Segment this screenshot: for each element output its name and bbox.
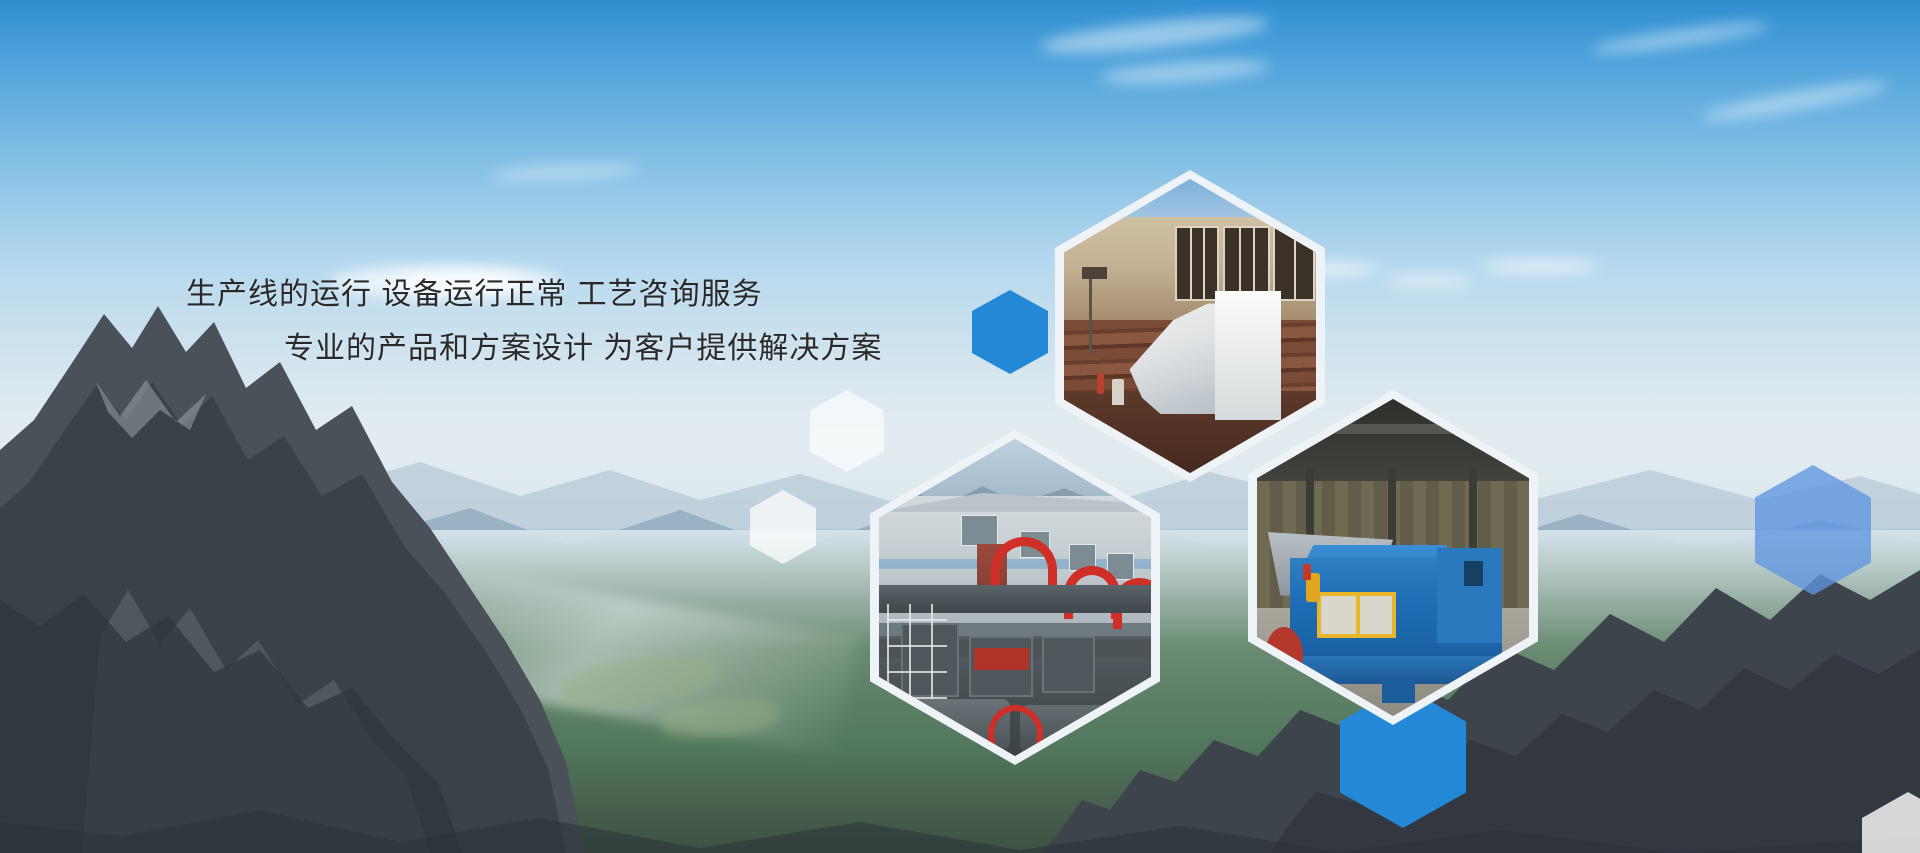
- hex-photo-image: [1064, 179, 1316, 473]
- scene-blue-shredder: [1257, 399, 1529, 716]
- headline-line-1: 生产线的运行 设备运行正常 工艺咨询服务: [186, 268, 946, 322]
- decorative-hexagon-light-blue: [1755, 465, 1871, 595]
- hero-headline: 生产线的运行 设备运行正常 工艺咨询服务 专业的产品和方案设计 为客户提供解决方…: [186, 268, 946, 376]
- hex-photo-blue-shredder[interactable]: [1248, 390, 1538, 725]
- scene-white-machine: [1064, 179, 1316, 473]
- hex-photo-image: [1257, 399, 1529, 716]
- decorative-hexagon-white: [1862, 792, 1920, 853]
- hexagon-photo-cluster: [850, 150, 1920, 853]
- decorative-hexagon-blue: [972, 290, 1048, 374]
- hex-photo-grey-machinery[interactable]: [870, 430, 1160, 765]
- hex-photo-white-machine[interactable]: [1055, 170, 1325, 482]
- scene-grey-machinery: [879, 439, 1151, 756]
- headline-line-2: 专业的产品和方案设计 为客户提供解决方案: [186, 322, 946, 376]
- hero-banner: 生产线的运行 设备运行正常 工艺咨询服务 专业的产品和方案设计 为客户提供解决方…: [0, 0, 1920, 853]
- hex-photo-image: [879, 439, 1151, 756]
